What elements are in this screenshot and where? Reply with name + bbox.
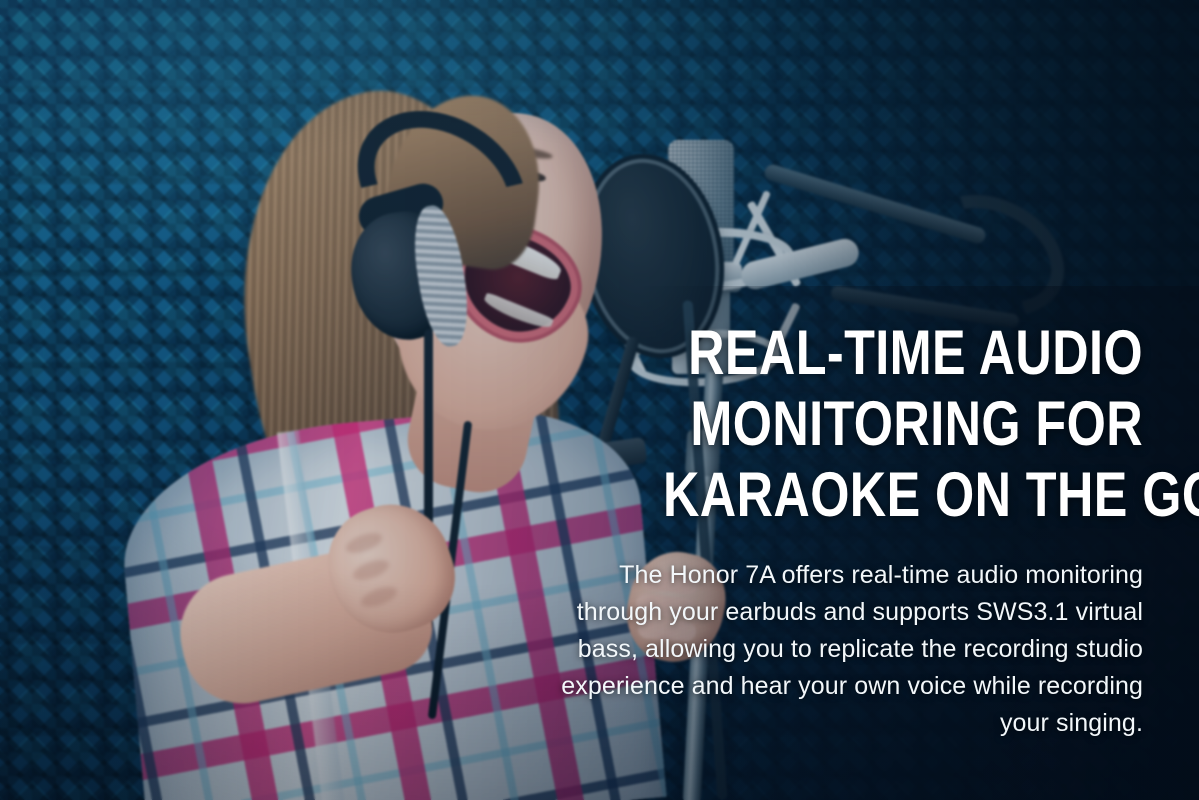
headline: REAL-TIME AUDIO MONITORING FOR KARAOKE O… [663,318,1143,531]
body-paragraph: The Honor 7A offers real-time audio moni… [543,557,1143,742]
headline-line-3: KARAOKE ON THE GO [663,460,1143,531]
headline-line-1: REAL-TIME AUDIO [663,318,1143,389]
promo-banner: REAL-TIME AUDIO MONITORING FOR KARAOKE O… [0,0,1199,800]
copy-block: REAL-TIME AUDIO MONITORING FOR KARAOKE O… [543,318,1143,742]
headline-line-2: MONITORING FOR [663,389,1143,460]
